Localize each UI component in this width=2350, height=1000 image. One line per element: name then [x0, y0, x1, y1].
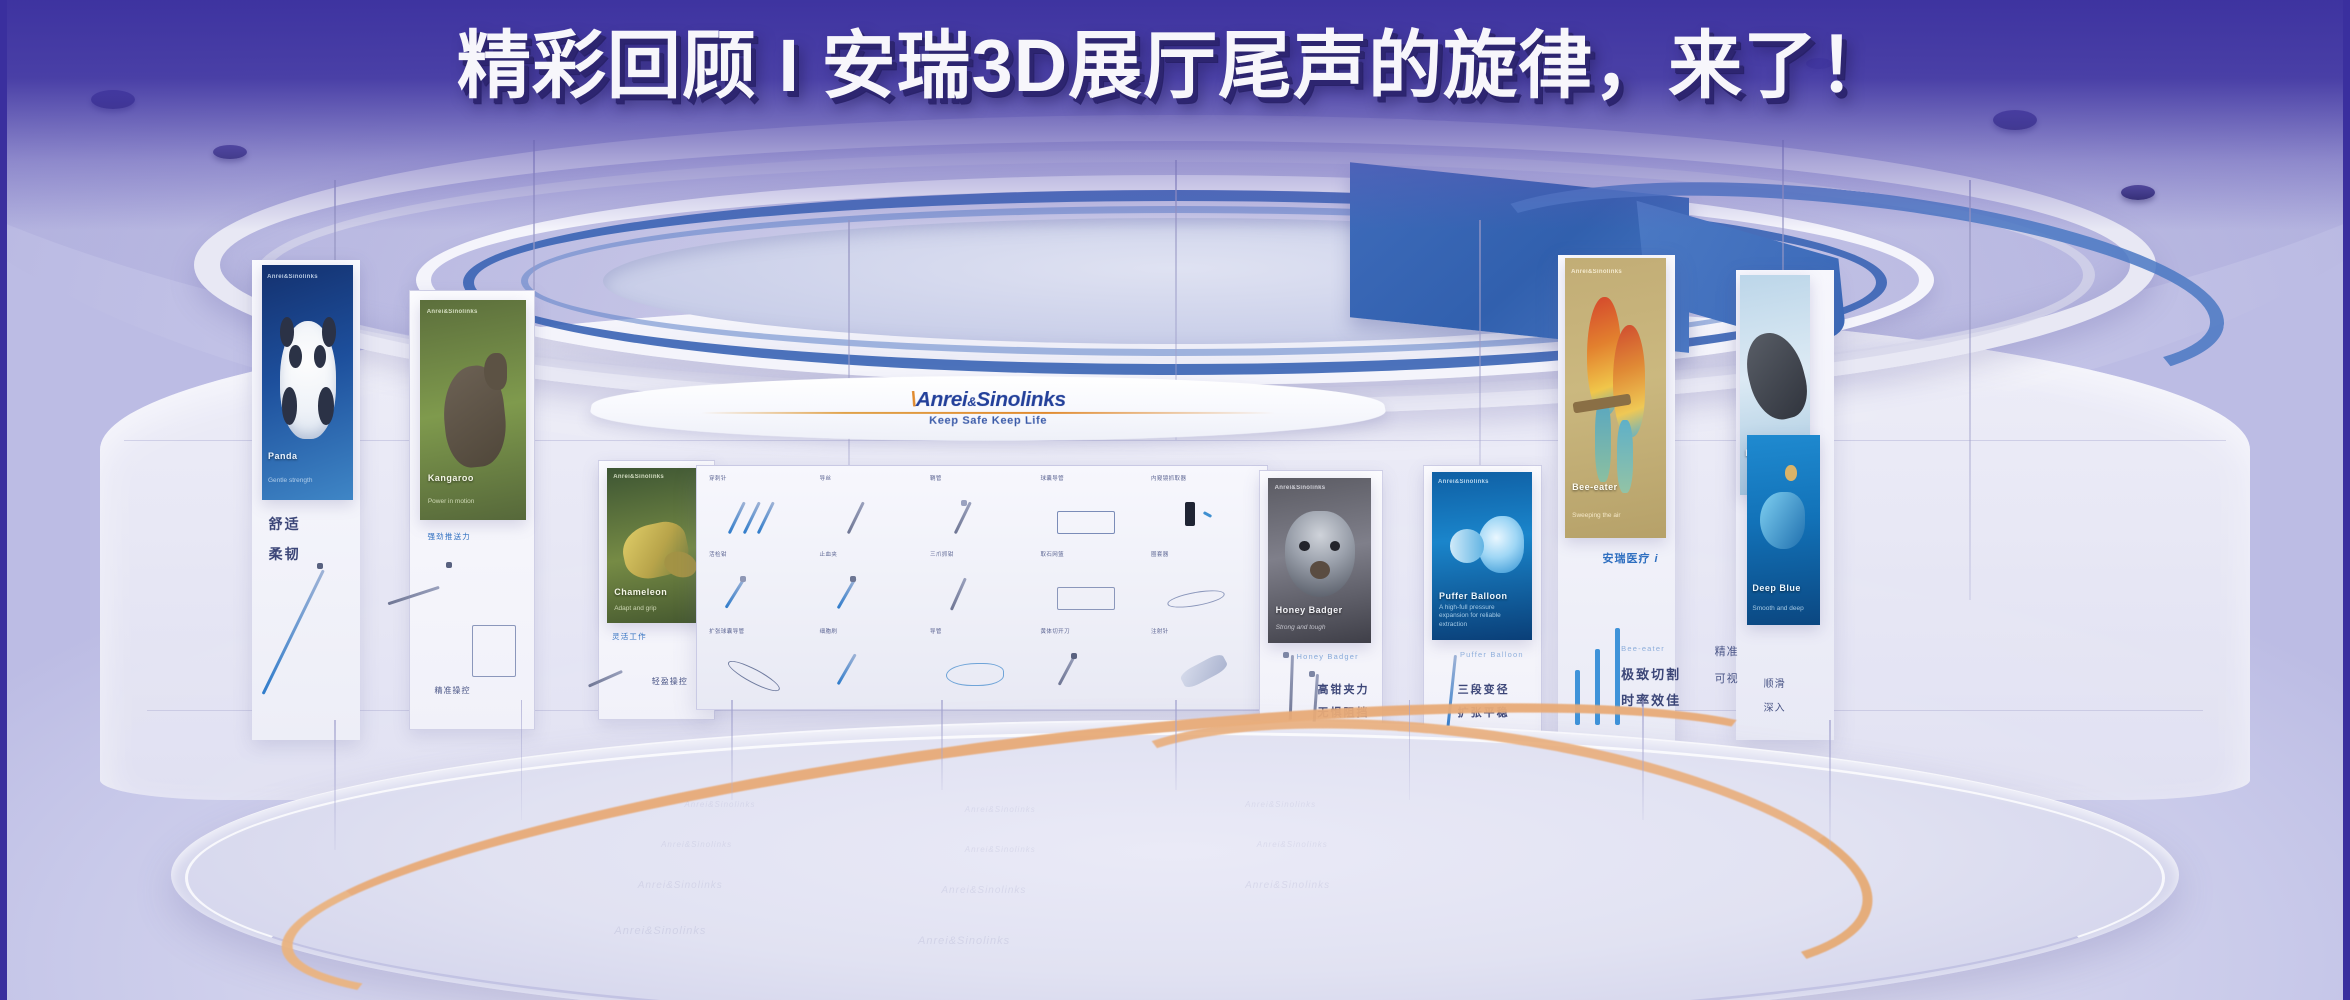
poster-kangaroo[interactable]: Anrei&Sinolinks Kangaroo Power in motion: [420, 300, 525, 520]
product-label: 导管: [930, 627, 942, 635]
product-label: 导丝: [820, 474, 832, 482]
product-cell[interactable]: 三爪抓钳: [928, 550, 1036, 624]
hanging-rod: [1969, 180, 1971, 600]
product-cell[interactable]: 细胞刷: [818, 627, 926, 701]
panda-eye-left: [289, 345, 302, 369]
floor-watermark: Anrei&Sinolinks: [661, 840, 732, 849]
poster-caption-line2: 可视: [1715, 672, 1739, 687]
product-cell[interactable]: 穿刺针: [707, 474, 815, 548]
product-label: 细胞刷: [820, 627, 838, 635]
product-label: 黄体切开刀: [1040, 627, 1070, 635]
poster-caption-line1: 强劲推送力: [427, 532, 471, 543]
product-label: 圈套器: [1151, 550, 1169, 558]
instrument-needle: [716, 499, 796, 539]
instrument-hemoclip: [826, 576, 906, 616]
floor-watermark: Anrei&Sinolinks: [918, 935, 1010, 947]
ceiling-spotlight: [213, 145, 247, 159]
instrument-tripod: [937, 576, 1017, 616]
product-cell[interactable]: 取石网篮: [1038, 550, 1146, 624]
product-cell[interactable]: 导丝: [818, 474, 926, 548]
honey-badger-snout: [1310, 561, 1331, 579]
poster-subtitle: Adapt and grip: [614, 605, 698, 614]
platform-railing: [1642, 700, 1644, 820]
product-cell[interactable]: 注射针: [1149, 627, 1257, 701]
poster-caption-line1: 高钳夹力: [1317, 683, 1369, 698]
page-title: 精彩回顾 I 安瑞3D展厅尾声的旋律，来了！: [0, 26, 2350, 106]
brand-logo-band: \Anrei&Sinolinks Keep Safe Keep Life: [584, 376, 1391, 441]
panda-ear-right: [322, 317, 337, 348]
instrument-cytology-brush: [826, 652, 906, 692]
puffer-fish-body: [1478, 516, 1524, 573]
platform-railing: [334, 720, 336, 850]
poster-subtitle: Gentle strength: [268, 477, 346, 486]
floor-watermark: Anrei&Sinolinks: [638, 880, 723, 891]
poster-logo: Anrei&Sinolinks: [1571, 269, 1622, 275]
medical-instrument-display-board[interactable]: 穿刺针 导丝 鞘管 球囊导管 内窥镜抓取器 活检钳 止血夹 三爪抓钳 取石网篮 …: [696, 465, 1268, 710]
poster-title: Panda: [268, 451, 346, 463]
poster-ocean[interactable]: Deep Blue Smooth and deep: [1747, 435, 1819, 625]
brand-name-part1: Anrei: [916, 389, 968, 411]
floor-watermark: Anrei&Sinolinks: [614, 925, 706, 937]
product-label: 扩张球囊导管: [709, 627, 744, 635]
eagle-silhouette: [1740, 327, 1810, 426]
poster-subtitle: Smooth and deep: [1752, 605, 1814, 614]
instrument-basket: [1047, 576, 1127, 616]
instrument-snare: [1158, 576, 1238, 616]
poster-title: Bee-eater: [1572, 482, 1658, 494]
panda-arm: [282, 387, 297, 425]
logo-underline: [701, 412, 1275, 414]
ceiling-spotlight: [2121, 185, 2155, 200]
poster-title: Honey Badger: [1276, 605, 1364, 617]
poster-honey-badger[interactable]: Anrei&Sinolinks Honey Badger Strong and …: [1268, 478, 1371, 643]
poster-caption-line1: 舒适: [269, 515, 301, 535]
poster-caption-line2: 柔韧: [269, 545, 301, 565]
honey-badger-head: [1285, 511, 1355, 597]
poster-subtitle: Sweeping the air: [1572, 512, 1658, 521]
instrument-graphic: [301, 560, 352, 720]
poster-logo: Anrei&Sinolinks: [613, 474, 664, 480]
ocean-whale: [1760, 492, 1805, 549]
product-label: 活检钳: [709, 550, 727, 558]
poster-title: Kangaroo: [428, 473, 518, 485]
honey-badger-eye-right: [1330, 541, 1340, 551]
platform-railing: [521, 700, 523, 820]
brand-logo-text: \Anrei&Sinolinks: [910, 390, 1066, 410]
instrument-biopsy-forceps: [716, 576, 796, 616]
poster-caption-line1: 精准: [1715, 645, 1739, 660]
floor-watermark: Anrei&Sinolinks: [941, 885, 1026, 896]
floor-watermark: Anrei&Sinolinks: [1245, 800, 1316, 809]
bee-eater-bird-2: [1613, 325, 1645, 437]
product-cell[interactable]: 活检钳: [707, 550, 815, 624]
exhibition-banner: Anrei&Sinolinks Panda Gentle strength 舒适…: [0, 0, 2350, 1000]
product-label: 内窥镜抓取器: [1151, 474, 1186, 482]
instrument-balloon: [1047, 499, 1127, 539]
instrument-graphic: [465, 600, 526, 690]
poster-panda[interactable]: Anrei&Sinolinks Panda Gentle strength: [262, 265, 353, 500]
floor-watermark: Anrei&Sinolinks: [1245, 880, 1330, 891]
floor-watermark: Anrei&Sinolinks: [965, 805, 1036, 814]
ocean-sun: [1785, 465, 1797, 480]
poster-caption-line2: 轻盈操控: [652, 676, 688, 687]
product-cell[interactable]: 扩张球囊导管: [707, 627, 815, 701]
product-cell[interactable]: 鞘管: [928, 474, 1036, 548]
poster-subtitle: Strong and tough: [1276, 624, 1364, 633]
poster-caption-line1: 灵活工作: [612, 632, 647, 643]
instrument-catheter: [937, 652, 1017, 692]
brand-ampersand: &: [967, 394, 976, 409]
floor-watermark: Anrei&Sinolinks: [1257, 840, 1328, 849]
showroom-3d-scene: Anrei&Sinolinks Panda Gentle strength 舒适…: [7, 0, 2343, 1000]
platform-railing: [941, 700, 943, 790]
platform-railing: [1175, 700, 1177, 790]
poster-caption-line2: 深入: [1764, 702, 1786, 716]
product-cell[interactable]: 内窥镜抓取器: [1149, 474, 1257, 548]
platform-railing: [1829, 720, 1831, 850]
product-label: 注射针: [1151, 627, 1169, 635]
product-label: 取石网篮: [1040, 550, 1064, 558]
poster-title: Puffer Balloon: [1439, 591, 1525, 603]
floor-watermark: Anrei&Sinolinks: [965, 845, 1036, 854]
poster-subtitle: Power in motion: [428, 498, 518, 507]
frame-border-left: [0, 0, 7, 1000]
product-cell[interactable]: 导管: [928, 627, 1036, 701]
product-cell[interactable]: 圈套器: [1149, 550, 1257, 624]
ceiling-spotlight: [1993, 110, 2037, 130]
instrument-sheath: [937, 499, 1017, 539]
puffer-fish-tail: [1450, 529, 1484, 563]
product-label: 三爪抓钳: [930, 550, 954, 558]
poster-logo: Anrei&Sinolinks: [267, 274, 318, 280]
kangaroo-head: [484, 353, 507, 390]
frame-border-right: [2343, 0, 2350, 1000]
poster-caption-line2: 精准操控: [434, 685, 470, 696]
poster-bee-eater[interactable]: Anrei&Sinolinks Bee-eater Sweeping the a…: [1565, 258, 1665, 538]
poster-subtitle: A high-full pressure expansion for relia…: [1439, 604, 1525, 630]
brand-mark-small: 安瑞医疗 i: [1602, 550, 1658, 566]
bee-eater-bird-1-tail: [1595, 398, 1611, 482]
product-cell[interactable]: 球囊导管: [1038, 474, 1146, 548]
honey-badger-eye-left: [1299, 541, 1309, 551]
platform-railing: [1409, 700, 1411, 800]
poster-logo: Anrei&Sinolinks: [1438, 479, 1489, 485]
product-label: 鞘管: [930, 474, 942, 482]
poster-caption-heading: Bee-eater: [1621, 644, 1665, 655]
platform-railing: [731, 700, 733, 800]
poster-chameleon[interactable]: Anrei&Sinolinks Chameleon Adapt and grip: [607, 468, 705, 623]
product-label: 止血夹: [820, 550, 838, 558]
instrument-wire: [826, 499, 906, 539]
instrument-grasper: [1158, 499, 1238, 539]
poster-caption-line1: 极致切割: [1621, 666, 1681, 684]
floor-watermark: Anrei&Sinolinks: [684, 800, 755, 809]
hanging-rod: [1479, 220, 1481, 500]
instrument-injection-needle: [1158, 652, 1238, 692]
poster-title: Chameleon: [614, 587, 698, 599]
instrument-papillotome: [1047, 652, 1127, 692]
poster-logo: Anrei&Sinolinks: [1275, 485, 1326, 491]
product-cell[interactable]: 止血夹: [818, 550, 926, 624]
poster-caption-line1: 三段变径: [1458, 683, 1510, 698]
poster-puffer-fish[interactable]: Anrei&Sinolinks Puffer Balloon A high-fu…: [1432, 472, 1532, 640]
brand-tagline: Keep Safe Keep Life: [929, 415, 1047, 427]
poster-title: Deep Blue: [1752, 583, 1814, 595]
product-label: 穿刺针: [709, 474, 727, 482]
brand-name-part2: Sinolinks: [976, 389, 1066, 411]
product-cell[interactable]: 黄体切开刀: [1038, 627, 1146, 701]
info-icon: i: [1655, 553, 1659, 565]
product-label: 球囊导管: [1040, 474, 1064, 482]
poster-caption-line1: 顺滑: [1764, 678, 1786, 692]
panda-arm: [318, 387, 333, 425]
instrument-dilation-balloon: [716, 652, 796, 692]
poster-logo: Anrei&Sinolinks: [427, 309, 478, 315]
